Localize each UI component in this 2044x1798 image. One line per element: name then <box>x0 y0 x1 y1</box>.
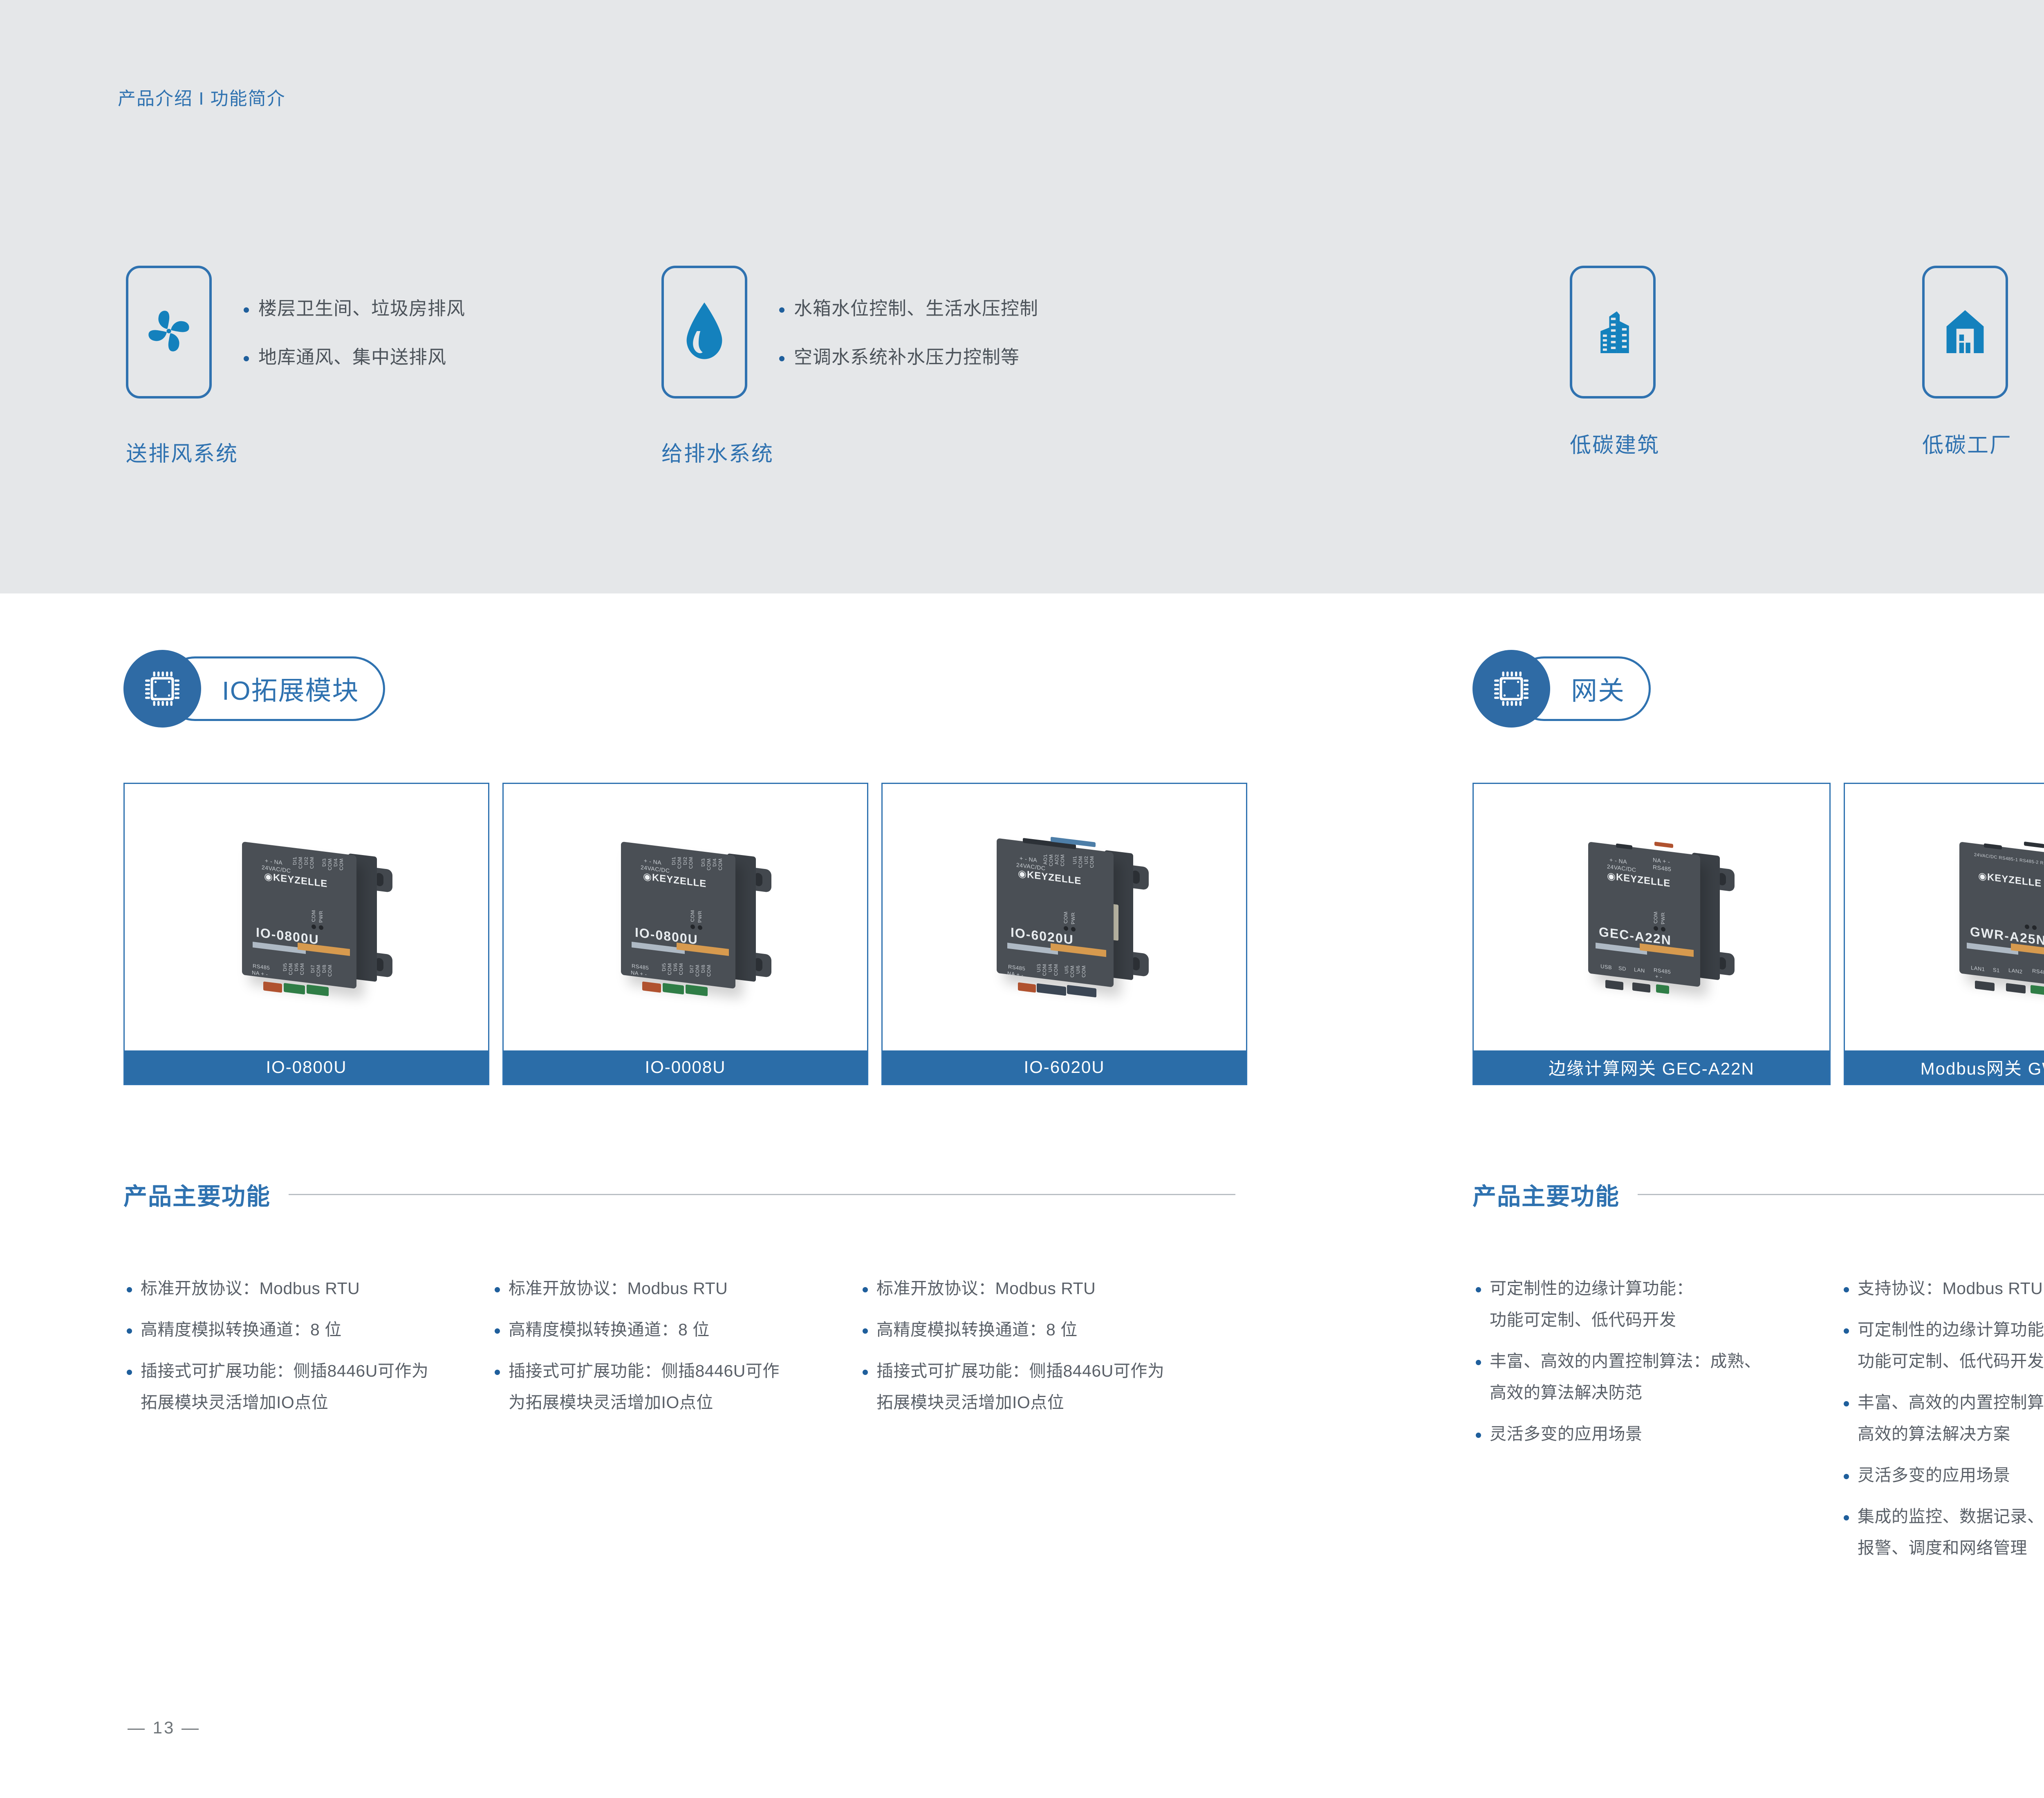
divider <box>289 1194 1235 1195</box>
list-item: 水箱水位控制、生活水压控制 <box>777 299 1038 318</box>
features-column: 标准开放协议：Modbus RTU 高精度模拟转换通道：8 位 插接式可扩展功能… <box>123 1280 491 1435</box>
features-block-io: 产品主要功能 标准开放协议：Modbus RTU 高精度模拟转换通道：8 位 插… <box>123 1177 1235 1435</box>
product-caption: IO-6020U <box>883 1050 1246 1084</box>
icon-frame <box>661 266 747 399</box>
section-title-label: 网关 <box>1571 670 1625 708</box>
features-columns: 标准开放协议：Modbus RTU 高精度模拟转换通道：8 位 插接式可扩展功能… <box>123 1280 1235 1435</box>
list-item: 灵活多变的应用场景 <box>1472 1426 1840 1442</box>
list-item-text: 插接式可扩展功能：侧插8446U可作为拓展模块灵活增加IO点位 <box>141 1361 491 1411</box>
list-item-text: 高精度模拟转换通道：8 位 <box>876 1320 1078 1339</box>
page-number-left: — 13 — <box>128 1718 200 1738</box>
scenario-block-ventilation: 楼层卫生间、垃圾房排风 地库通风、集中送排风 送排风系统 <box>126 266 465 399</box>
features-header: 产品主要功能 <box>123 1177 1235 1211</box>
features-title: 产品主要功能 <box>123 1177 271 1211</box>
product-card-row-io: + - NA 24VAC/DC DI1 COM DI2 COM DI3 COM … <box>123 783 1247 1085</box>
list-item: 标准开放协议：Modbus RTU <box>491 1280 859 1297</box>
fan-icon <box>143 305 195 359</box>
features-block-gateways: 产品主要功能 可定制性的边缘计算功能： 功能可定制、低代码开发 丰富、高效的内置… <box>1472 1177 2044 1581</box>
features-column: 标准开放协议：Modbus RTU 高精度模拟转换通道：8 位 插接式可扩展功能… <box>859 1280 1227 1435</box>
device-photo-io-6020u: + - NA 24VAC/DC AO1 COM AO2 COM UI1 COM … <box>962 823 1167 1011</box>
list-item-text: 高精度模拟转换通道：8 位 <box>141 1320 342 1339</box>
product-card[interactable]: + - NA 24VAC/DC DI1 COM DI2 COM DI3 COM … <box>502 783 868 1085</box>
list-item: 高精度模拟转换通道：8 位 <box>491 1321 859 1338</box>
list-item-text: 丰富、高效的内置控制算法：成熟、高效的算法解决方案 <box>1858 1393 2044 1442</box>
scenario-bullet-list: 楼层卫生间、垃圾房排风 地库通风、集中送排风 <box>241 266 465 366</box>
target-block-building: 低碳建筑 <box>1570 266 1656 459</box>
list-item: 空调水系统补水压力控制等 <box>777 348 1038 366</box>
scenario-block-water: 水箱水位控制、生活水压控制 空调水系统补水压力控制等 给排水系统 <box>661 266 1038 399</box>
product-card[interactable]: + - NA 24VAC/DC AO1 COM AO2 COM UI1 COM … <box>881 783 1247 1085</box>
features-column: 支持协议：Modbus RTU 可定制性的边缘计算功能：功能可定制、低代码开发 … <box>1840 1280 2044 1581</box>
product-card[interactable]: + - NA 24VAC/DC DI1 COM DI2 COM DI3 COM … <box>123 783 489 1085</box>
device-photo-io-0800u: + - NA 24VAC/DC DI1 COM DI2 COM DI3 COM … <box>204 823 409 1011</box>
office-building-icon <box>1584 302 1642 362</box>
brochure-spread: 产品介绍 I 功能简介 产品介绍 I 功能简介 楼层卫生间、垃圾房排风 地库通风… <box>0 0 2044 1798</box>
list-item: 高精度模拟转换通道：8 位 <box>123 1321 491 1338</box>
product-card[interactable]: 24VAC/DC RS485-1 RS485-2 RS485-3 ◉KEYZEL… <box>1844 783 2044 1085</box>
list-item: 地库通风、集中送排风 <box>241 348 465 366</box>
target-caption: 低碳建筑 <box>1570 428 1656 459</box>
scenario-caption: 送排风系统 <box>126 437 238 467</box>
target-caption: 低碳工厂 <box>1922 428 2008 459</box>
icon-frame <box>1922 266 2008 399</box>
icon-frame <box>1570 266 1656 399</box>
list-item-text: 丰富、高效的内置控制算法：成熟、高效的算法解决防范 <box>1490 1352 1840 1401</box>
section-title-label: IO拓展模块 <box>222 670 359 708</box>
list-item-text: 标准开放协议：Modbus RTU <box>509 1279 728 1298</box>
chip-icon <box>1472 650 1550 728</box>
product-card[interactable]: + - NA 24VAC/DC NA + - RS485 ◉KEYZELLE G… <box>1472 783 1831 1085</box>
list-item-text: 集成的监控、数据记录、能耗计量、报警、调度和网络管理 <box>1858 1507 2044 1556</box>
product-caption: 边缘计算网关 GEC-A22N <box>1474 1050 1829 1084</box>
list-item-text: 高精度模拟转换通道：8 位 <box>509 1320 710 1339</box>
list-item-text: 插接式可扩展功能：侧插8446U可作为拓展模块灵活增加IO点位 <box>509 1361 859 1411</box>
product-caption: IO-0008U <box>504 1050 867 1084</box>
list-item: 可定制性的边缘计算功能： 功能可定制、低代码开发 <box>1472 1280 1840 1328</box>
list-item-text: 支持协议：Modbus RTU <box>1858 1279 2043 1298</box>
running-head-left: 产品介绍 I 功能简介 <box>118 84 286 110</box>
chip-icon <box>123 650 201 728</box>
device-photo-gwr-a25n: 24VAC/DC RS485-1 RS485-2 RS485-3 ◉KEYZEL… <box>1923 823 2044 1011</box>
product-caption: IO-0800U <box>125 1050 488 1084</box>
device-photo-gec-a22n: + - NA 24VAC/DC NA + - RS485 ◉KEYZELLE G… <box>1551 823 1752 1011</box>
target-block-factory: 低碳工厂 <box>1922 266 2008 459</box>
list-item-text: 可定制性的边缘计算功能： 功能可定制、低代码开发 <box>1490 1279 1840 1328</box>
list-item: 楼层卫生间、垃圾房排风 <box>241 299 465 318</box>
divider <box>1638 1194 2044 1195</box>
list-item-text: 灵活多变的应用场景 <box>1490 1424 1643 1443</box>
features-column: 可定制性的边缘计算功能： 功能可定制、低代码开发 丰富、高效的内置控制算法：成熟… <box>1472 1280 1840 1581</box>
list-item-text: 可定制性的边缘计算功能：功能可定制、低代码开发 <box>1858 1320 2044 1370</box>
icon-frame <box>126 266 212 399</box>
list-item: 灵活多变的应用场景 <box>1840 1467 2044 1484</box>
list-item-text: 标准开放协议：Modbus RTU <box>141 1279 360 1298</box>
list-item: 标准开放协议：Modbus RTU <box>123 1280 491 1297</box>
list-item: 丰富、高效的内置控制算法：成熟、高效的算法解决方案 <box>1840 1394 2044 1442</box>
list-item-text: 插接式可扩展功能：侧插8446U可作为拓展模块灵活增加IO点位 <box>876 1361 1227 1411</box>
list-item: 高精度模拟转换通道：8 位 <box>859 1321 1227 1338</box>
product-card-row-gateways: + - NA 24VAC/DC NA + - RS485 ◉KEYZELLE G… <box>1472 783 2044 1085</box>
list-item: 插接式可扩展功能：侧插8446U可作为拓展模块灵活增加IO点位 <box>859 1363 1227 1411</box>
device-photo-io-0008u: + - NA 24VAC/DC DI1 COM DI2 COM DI3 COM … <box>583 823 788 1011</box>
features-title: 产品主要功能 <box>1472 1177 1620 1211</box>
list-item: 可定制性的边缘计算功能：功能可定制、低代码开发 <box>1840 1321 2044 1370</box>
features-column: 标准开放协议：Modbus RTU 高精度模拟转换通道：8 位 插接式可扩展功能… <box>491 1280 859 1435</box>
features-columns: 可定制性的边缘计算功能： 功能可定制、低代码开发 丰富、高效的内置控制算法：成熟… <box>1472 1280 2044 1581</box>
section-title-gateways: 网关 <box>1472 650 1701 728</box>
list-item: 丰富、高效的内置控制算法：成熟、高效的算法解决防范 <box>1472 1353 1840 1401</box>
list-item: 插接式可扩展功能：侧插8446U可作为拓展模块灵活增加IO点位 <box>491 1363 859 1411</box>
factory-icon <box>1936 302 1994 362</box>
product-caption: Modbus网关 GWR-A25N <box>1845 1050 2044 1084</box>
scenario-bullet-list: 水箱水位控制、生活水压控制 空调水系统补水压力控制等 <box>777 266 1038 366</box>
list-item: 支持协议：Modbus RTU <box>1840 1280 2044 1297</box>
list-item-text: 标准开放协议：Modbus RTU <box>876 1279 1096 1298</box>
list-item-text: 灵活多变的应用场景 <box>1858 1466 2010 1485</box>
section-title-io-modules: IO拓展模块 <box>123 650 426 728</box>
list-item: 插接式可扩展功能：侧插8446U可作为拓展模块灵活增加IO点位 <box>123 1363 491 1411</box>
features-header: 产品主要功能 <box>1472 1177 2044 1211</box>
list-item: 集成的监控、数据记录、能耗计量、报警、调度和网络管理 <box>1840 1508 2044 1556</box>
scenario-caption: 给排水系统 <box>661 437 774 467</box>
list-item: 标准开放协议：Modbus RTU <box>859 1280 1227 1297</box>
water-drop-icon <box>681 301 727 363</box>
